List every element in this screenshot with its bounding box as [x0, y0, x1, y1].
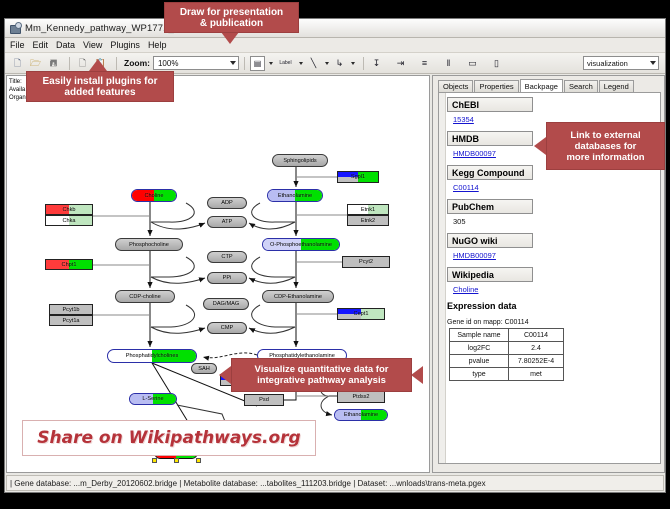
db-name: ChEBI: [452, 100, 479, 110]
line-tool[interactable]: ╲: [306, 56, 321, 71]
align-left-tool[interactable]: ⇥: [393, 56, 408, 71]
db-header-pubchem: PubChem: [447, 199, 533, 214]
node-label: SAH: [198, 366, 210, 372]
node-gene-etnk2[interactable]: Etnk2: [347, 215, 389, 226]
toolbar-separator-1: [69, 57, 70, 70]
node-label: Psd: [259, 397, 269, 403]
open-folder-button[interactable]: 🗁: [28, 56, 43, 71]
node-gene-etnk1[interactable]: Etnk1: [347, 204, 389, 215]
tab-label: Backpage: [525, 82, 558, 91]
datanode-dropdown-icon[interactable]: [269, 62, 273, 65]
callout-line: integrative pathway analysis: [255, 375, 389, 386]
expression-table: Sample name C00114 log2FC 2.4 pvalue 7.8…: [449, 328, 564, 381]
callout-line: more information: [566, 152, 644, 163]
menu-item-help[interactable]: Help: [148, 40, 167, 50]
expr-value: C00114: [509, 329, 564, 342]
db-header-wikipedia: Wikipedia: [447, 267, 533, 282]
menu-item-edit[interactable]: Edit: [33, 40, 49, 50]
selection-handle-sw[interactable]: [152, 458, 157, 463]
node-label: Phosphocholine: [129, 242, 169, 248]
db-link-nugo-wiki[interactable]: HMDB00097: [453, 251, 656, 260]
db-name: PubChem: [452, 202, 494, 212]
callout-line: Draw for presentation: [180, 7, 283, 18]
node-cdp-choline[interactable]: CDP-choline: [115, 290, 175, 303]
node-dag-mag[interactable]: DAG/MAG: [203, 298, 249, 310]
node-gene-pcyt1a[interactable]: Pcyt1a: [49, 315, 93, 326]
pathway-canvas[interactable]: Title: Availa Organ: [6, 75, 430, 473]
node-phosphocholine[interactable]: Phosphocholine: [115, 238, 183, 251]
node-gene-pcyt1b[interactable]: Pcyt1b: [49, 304, 93, 315]
tab-backpage[interactable]: Backpage: [520, 79, 563, 92]
toolbar-separator-4: [363, 57, 364, 70]
expr-key: pvalue: [450, 355, 509, 368]
db-header-nugo-wiki: NuGO wiki: [447, 233, 533, 248]
callout-external-links: Link to external databases for more info…: [546, 122, 665, 170]
callout-install-plugins: Easily install plugins for added feature…: [26, 71, 174, 102]
db-header-chebi: ChEBI: [447, 97, 533, 112]
node-label: Pcyt1a: [62, 318, 79, 324]
tab-label: Legend: [604, 82, 629, 91]
callout-arrow-down-icon: [221, 32, 239, 44]
node-label: Chpt1: [62, 262, 77, 268]
node-o-phosphoethanolamine[interactable]: O-Phosphoethanolamine: [262, 238, 340, 251]
table-row: pvalue 7.80252E-4: [450, 355, 564, 368]
table-row: type met: [450, 368, 564, 381]
db-link-kegg-compound[interactable]: C00114: [453, 183, 656, 192]
menu-item-plugins[interactable]: Plugins: [110, 40, 140, 50]
node-label: O-Phosphoethanolamine: [270, 242, 332, 248]
callout-line: added features: [42, 87, 157, 98]
node-cmp[interactable]: CMP: [207, 322, 247, 334]
node-sah[interactable]: SAH: [191, 363, 217, 374]
callout-arrow-left-icon: [219, 366, 231, 384]
pathvisio-app-icon: [9, 22, 21, 34]
node-atp[interactable]: ATP: [207, 216, 247, 228]
gene-id-on-mapp: Gene id on mapp: C00114: [447, 319, 656, 326]
bring-front-tool[interactable]: ▭: [465, 56, 480, 71]
label-tool[interactable]: Label: [276, 56, 295, 71]
db-value-pubchem: 305: [453, 217, 656, 226]
select-datanode-tool[interactable]: ▤: [250, 56, 265, 71]
node-label: Pcyt1b: [62, 307, 79, 313]
db-name: Kegg Compound: [452, 168, 525, 178]
node-l-serine-left[interactable]: L-Serine: [129, 393, 177, 405]
node-label: Choline: [145, 193, 164, 199]
callout-line: & publication: [180, 18, 283, 29]
node-sphingolipids[interactable]: Sphingolipids: [272, 154, 328, 167]
callout-line: databases for: [566, 141, 644, 152]
toolbar-separator-3: [244, 57, 245, 70]
node-gene-chka[interactable]: Chka: [45, 215, 93, 226]
node-gene-sgpl1[interactable]: Sgpl1: [337, 171, 379, 183]
db-link-wikipedia[interactable]: Choline: [453, 285, 656, 294]
db-name: Wikipedia: [452, 270, 494, 280]
node-gene-chpt1[interactable]: Chpt1: [45, 259, 93, 270]
db-name: NuGO wiki: [452, 236, 498, 246]
expr-key: type: [450, 368, 509, 381]
callout-arrow-left-icon: [534, 137, 546, 155]
db-header-hmdb: HMDB: [447, 131, 533, 146]
node-label: Pcyt2: [359, 259, 373, 265]
node-label: Chka: [62, 218, 75, 224]
callout-text: Draw for presentation & publication: [176, 5, 287, 31]
node-cdp-ethanolamine[interactable]: CDP-Ethanolamine: [262, 290, 334, 303]
chevron-down-icon: [230, 61, 236, 65]
expr-value: 2.4: [509, 342, 564, 355]
tab-properties[interactable]: Properties: [474, 80, 518, 92]
callout-share: Share on Wikipathways.org: [22, 420, 316, 456]
selection-handle-se[interactable]: [196, 458, 201, 463]
node-ctp[interactable]: CTP: [207, 251, 247, 263]
node-label: Ethanolamine: [278, 193, 312, 199]
tab-objects[interactable]: Objects: [438, 80, 473, 92]
node-label: Etnk1: [361, 207, 375, 213]
tab-search[interactable]: Search: [564, 80, 598, 92]
menubar: File Edit Data View Plugins Help: [5, 38, 665, 53]
node-label: Chkb: [62, 207, 75, 213]
node-gene-cept1[interactable]: Cept1: [337, 308, 385, 320]
node-label: ADP: [221, 200, 233, 206]
callout-arrow-up-icon: [89, 59, 107, 71]
align-top-tool[interactable]: ↧: [369, 56, 384, 71]
node-ppi[interactable]: PPi: [207, 272, 247, 284]
node-ethanolamine[interactable]: Ethanolamine: [267, 189, 323, 202]
node-label: CDP-choline: [129, 294, 160, 300]
callout-text: Visualize quantitative data for integrat…: [251, 362, 393, 388]
node-label: Sgpl1: [351, 174, 365, 180]
table-row: log2FC 2.4: [450, 342, 564, 355]
callout-line: Easily install plugins for: [42, 76, 157, 87]
align-vertical-tool[interactable]: ≡: [417, 56, 432, 71]
expr-value: met: [509, 368, 564, 381]
expr-key: log2FC: [450, 342, 509, 355]
node-label: CDP-Ethanolamine: [274, 294, 322, 300]
node-label: Etnk2: [361, 218, 375, 224]
callout-text: Easily install plugins for added feature…: [38, 74, 161, 100]
save-button[interactable]: 🖪: [46, 56, 61, 71]
visualization-combobox[interactable]: visualization: [583, 56, 659, 70]
table-row: Sample name C00114: [450, 329, 564, 342]
node-gene-psd[interactable]: Psd: [244, 394, 284, 406]
side-panel-tabs: Objects Properties Backpage Search Legen…: [438, 79, 661, 92]
selection-handle-s[interactable]: [174, 458, 179, 463]
node-label: PPi: [223, 275, 232, 281]
line-dropdown-icon[interactable]: [325, 62, 329, 65]
label-dropdown-icon[interactable]: [299, 62, 303, 65]
menu-item-view[interactable]: View: [83, 40, 102, 50]
node-ethanolamine-right[interactable]: Ethanolamine: [334, 409, 388, 421]
send-back-tool[interactable]: ▯: [489, 56, 504, 71]
expr-key: Sample name: [450, 329, 509, 342]
zoom-combobox[interactable]: 100%: [153, 56, 239, 70]
interaction-dropdown-icon[interactable]: [351, 62, 355, 65]
callout-draw-publication: Draw for presentation & publication: [164, 2, 299, 33]
callout-visualize-data: Visualize quantitative data for integrat…: [231, 358, 412, 392]
node-adp[interactable]: ADP: [207, 197, 247, 209]
new-file-button[interactable]: 🗋: [10, 56, 25, 71]
menu-item-data[interactable]: Data: [56, 40, 75, 50]
callout-arrow-right-icon: [411, 366, 423, 384]
window-titlebar: Mm_Kennedy_pathway_WP1771_45176.gpml: [5, 19, 665, 38]
expression-data-heading: Expression data: [447, 301, 656, 311]
node-label: ATP: [222, 219, 232, 225]
chevron-down-icon: [650, 61, 656, 65]
backpage-scrollbar[interactable]: [439, 93, 446, 463]
node-label: CMP: [221, 325, 233, 331]
tab-legend[interactable]: Legend: [599, 80, 634, 92]
visualization-value: visualization: [587, 59, 628, 68]
callout-line: Link to external: [566, 130, 644, 141]
node-label: Cept1: [354, 311, 369, 317]
node-label: Ptdss2: [352, 394, 369, 400]
node-label: DAG/MAG: [213, 301, 239, 307]
node-label: CTP: [221, 254, 232, 260]
node-gene-ptdss2[interactable]: Ptdss2: [337, 391, 385, 403]
statusbar-text: | Gene database: ...m_Derby_20120602.bri…: [10, 479, 486, 488]
node-choline-top[interactable]: Choline: [131, 189, 177, 202]
callout-line: Share on Wikipathways.org: [37, 428, 300, 448]
node-label: Phosphatidylcholines: [126, 353, 179, 359]
node-phosphatidylcholines[interactable]: Phosphatidylcholines: [107, 349, 197, 363]
node-label: Ethanolamine: [344, 412, 378, 418]
copy-button[interactable]: 🗋: [75, 56, 90, 71]
node-label: Sphingolipids: [283, 158, 316, 164]
node-gene-pcyt2[interactable]: Pcyt2: [342, 256, 390, 268]
toolbar-separator-2: [116, 57, 117, 70]
expr-value: 7.80252E-4: [509, 355, 564, 368]
node-label: L-Serine: [142, 396, 163, 402]
tab-label: Objects: [443, 82, 468, 91]
db-header-kegg-compound: Kegg Compound: [447, 165, 533, 180]
statusbar: | Gene database: ...m_Derby_20120602.bri…: [6, 475, 664, 491]
menu-item-file[interactable]: File: [10, 40, 25, 50]
tab-label: Properties: [479, 82, 513, 91]
db-name: HMDB: [452, 134, 479, 144]
zoom-value: 100%: [158, 59, 178, 68]
node-gene-chkb[interactable]: Chkb: [45, 204, 93, 215]
callout-text: Link to external databases for more info…: [562, 128, 648, 165]
same-width-tool[interactable]: ‖: [441, 56, 456, 71]
screenshot-root: Mm_Kennedy_pathway_WP1771_45176.gpml Fil…: [0, 0, 670, 509]
zoom-label: Zoom:: [124, 58, 150, 68]
callout-line: Visualize quantitative data for: [255, 364, 389, 375]
tab-label: Search: [569, 82, 593, 91]
interaction-tool[interactable]: ↳: [332, 56, 347, 71]
